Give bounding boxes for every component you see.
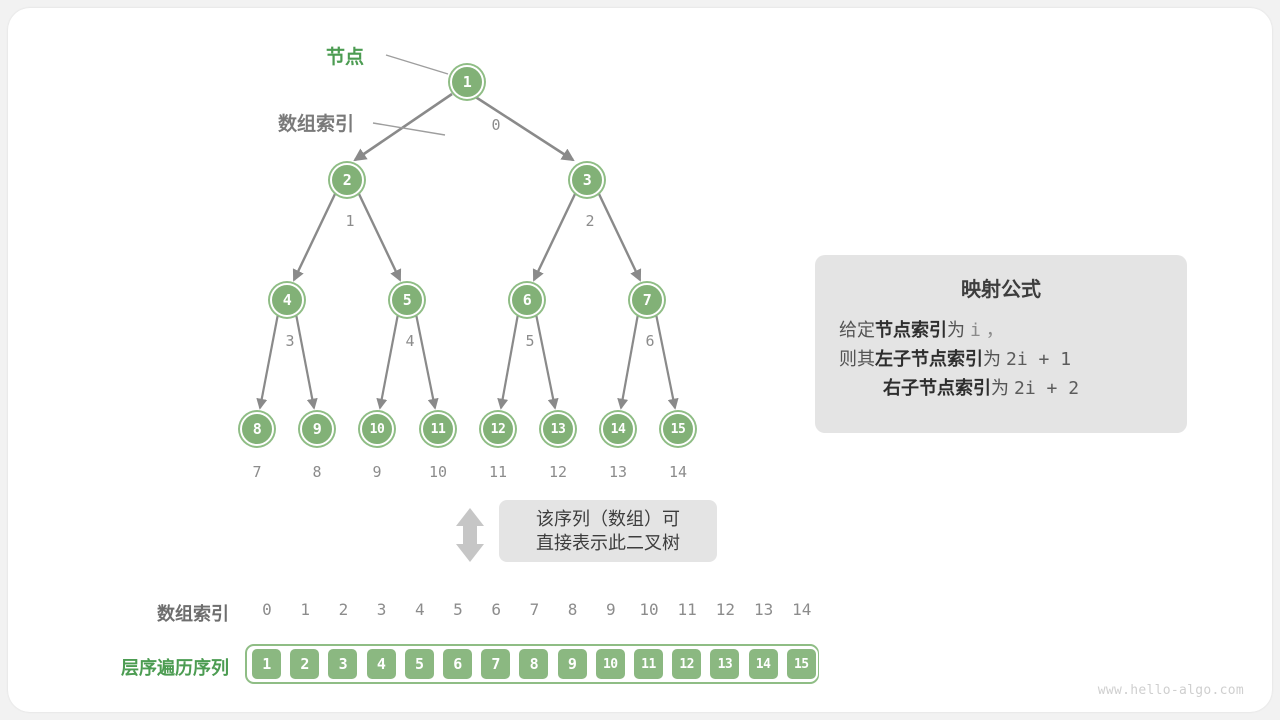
sequence-note-line-1: 该序列（数组）可 xyxy=(536,507,680,531)
array-index-1: 1 xyxy=(286,600,324,619)
array-index-0: 0 xyxy=(248,600,286,619)
formula-l2-expr: 2i + 1 xyxy=(1006,349,1071,370)
array-cell-2[interactable]: 3 xyxy=(326,647,359,681)
sequence-note-line-2: 直接表示此二叉树 xyxy=(536,531,680,555)
tree-node-index-14: 14 xyxy=(661,463,695,481)
formula-l2-pre: 则其 xyxy=(839,349,875,369)
diagram-card: 节点 数组索引 10213243546576879810911101211131… xyxy=(8,8,1272,712)
tree-node-15: 15 xyxy=(661,412,695,446)
array-cell-12[interactable]: 13 xyxy=(708,647,741,681)
array-index-6: 6 xyxy=(477,600,515,619)
formula-line-3: 右子节点索引为 2i + 2 xyxy=(815,374,1187,403)
array-index-10: 10 xyxy=(630,600,668,619)
formula-line-1: 给定节点索引为 i ， xyxy=(815,316,1187,345)
tree-node-5: 5 xyxy=(390,283,424,317)
array-cell-11[interactable]: 12 xyxy=(670,647,703,681)
formula-l1-mid: 为 xyxy=(947,320,965,340)
tree-node-8: 8 xyxy=(240,412,274,446)
tree-node-13: 13 xyxy=(541,412,575,446)
node-callout-label: 节点 xyxy=(326,42,364,69)
tree-node-index-4: 4 xyxy=(395,332,425,350)
tree-node-index-8: 8 xyxy=(300,463,334,481)
array-cell-9[interactable]: 10 xyxy=(594,647,627,681)
node-callout-leader xyxy=(386,55,448,74)
tree-node-index-1: 1 xyxy=(335,212,365,230)
array-cell-8[interactable]: 9 xyxy=(556,647,589,681)
tree-node-4: 4 xyxy=(270,283,304,317)
formula-l2-bold: 左子节点索引 xyxy=(875,349,983,369)
tree-edge-group-level2 xyxy=(294,194,640,280)
tree-node-index-2: 2 xyxy=(575,212,605,230)
level-order-row-label: 层序遍历序列 xyxy=(69,654,229,680)
array-index-11: 11 xyxy=(668,600,706,619)
tree-node-index-0: 0 xyxy=(481,116,511,134)
tree-node-6: 6 xyxy=(510,283,544,317)
array-index-9: 9 xyxy=(592,600,630,619)
tree-node-7: 7 xyxy=(630,283,664,317)
tree-node-index-3: 3 xyxy=(275,332,305,350)
tree-node-index-7: 7 xyxy=(240,463,274,481)
array-index-14: 14 xyxy=(783,600,821,619)
tree-node-index-9: 9 xyxy=(360,463,394,481)
array-cell-6[interactable]: 7 xyxy=(479,647,512,681)
array-index-4: 4 xyxy=(401,600,439,619)
array-cell-5[interactable]: 6 xyxy=(441,647,474,681)
array-index-5: 5 xyxy=(439,600,477,619)
formula-line-2: 则其左子节点索引为 2i + 1 xyxy=(815,345,1187,374)
array-cell-7[interactable]: 8 xyxy=(517,647,550,681)
formula-l1-end: ， xyxy=(986,320,1004,341)
formula-title: 映射公式 xyxy=(815,273,1187,302)
array-cell-0[interactable]: 1 xyxy=(250,647,283,681)
watermark: www.hello-algo.com xyxy=(1098,683,1244,698)
array-cell-13[interactable]: 14 xyxy=(747,647,780,681)
index-callout-label: 数组索引 xyxy=(278,109,354,136)
tree-node-index-13: 13 xyxy=(601,463,635,481)
mapping-formula-box: 映射公式 给定节点索引为 i ， 则其左子节点索引为 2i + 1 右子节点索引… xyxy=(815,255,1187,433)
array-cell-4[interactable]: 5 xyxy=(403,647,436,681)
tree-node-11: 11 xyxy=(421,412,455,446)
tree-node-2: 2 xyxy=(330,163,364,197)
formula-l3-expr: 2i + 2 xyxy=(1014,378,1079,399)
tree-node-index-6: 6 xyxy=(635,332,665,350)
formula-l1-var: i xyxy=(970,320,981,341)
array-cell-14[interactable]: 15 xyxy=(785,647,818,681)
double-arrow-icon xyxy=(456,508,484,562)
array-index-7: 7 xyxy=(515,600,553,619)
formula-l2-mid: 为 xyxy=(983,349,1001,369)
formula-l1-pre: 给定 xyxy=(839,320,875,340)
tree-edge-group-level1 xyxy=(355,94,573,160)
tree-node-9: 9 xyxy=(300,412,334,446)
array-index-8: 8 xyxy=(554,600,592,619)
array-index-row-label: 数组索引 xyxy=(109,600,229,626)
sequence-note-box: 该序列（数组）可 直接表示此二叉树 xyxy=(499,500,717,562)
array-index-13: 13 xyxy=(745,600,783,619)
array-cell-10[interactable]: 11 xyxy=(632,647,665,681)
array-index-12: 12 xyxy=(706,600,744,619)
array-cell-1[interactable]: 2 xyxy=(288,647,321,681)
formula-l3-bold: 右子节点索引 xyxy=(883,378,991,398)
tree-node-1: 1 xyxy=(450,65,484,99)
array-index-3: 3 xyxy=(363,600,401,619)
array-cell-3[interactable]: 4 xyxy=(365,647,398,681)
tree-node-index-5: 5 xyxy=(515,332,545,350)
tree-node-index-11: 11 xyxy=(481,463,515,481)
tree-node-12: 12 xyxy=(481,412,515,446)
tree-node-3: 3 xyxy=(570,163,604,197)
tree-node-index-12: 12 xyxy=(541,463,575,481)
tree-node-10: 10 xyxy=(360,412,394,446)
tree-edge-group-level3 xyxy=(260,314,675,408)
formula-l1-bold: 节点索引 xyxy=(875,320,947,340)
array-index-2: 2 xyxy=(324,600,362,619)
tree-node-index-10: 10 xyxy=(421,463,455,481)
formula-l3-mid: 为 xyxy=(991,378,1009,398)
tree-node-14: 14 xyxy=(601,412,635,446)
